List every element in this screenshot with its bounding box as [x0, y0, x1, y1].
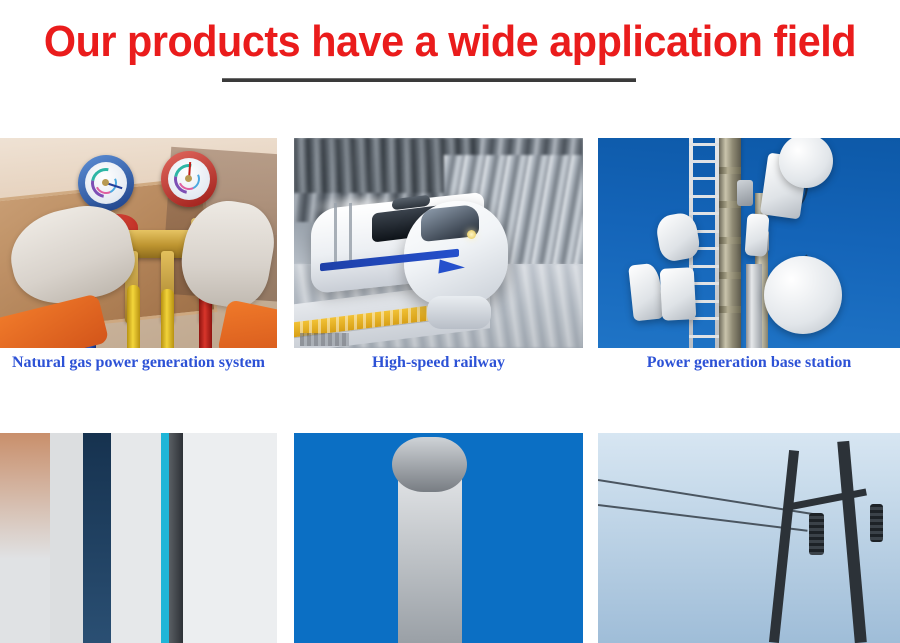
photo-segment — [0, 433, 50, 643]
panel-antenna-lower-left-2 — [660, 267, 697, 321]
page-title: Our products have a wide application fie… — [27, 16, 873, 68]
yellow-hose-second — [161, 289, 174, 348]
red-pressure-gauge — [161, 151, 217, 207]
telecom-tower-photo[interactable] — [598, 138, 900, 348]
microwave-dish-upper — [779, 138, 833, 188]
mast-band — [719, 272, 741, 279]
gallery-item-caption: Natural gas power generation system — [0, 352, 277, 374]
gallery-item-blue-tank[interactable] — [294, 433, 583, 643]
page-root: Our products have a wide application fie… — [0, 0, 900, 450]
tower-equipment-box — [737, 180, 753, 206]
ladder-rung — [689, 265, 719, 268]
gallery-item-power-line[interactable] — [598, 433, 900, 643]
photo-segment — [83, 433, 111, 643]
insulator-string — [870, 504, 883, 542]
gallery-item-base-station[interactable]: Power generation base station — [598, 138, 900, 348]
microwave-dish-lower — [764, 256, 842, 334]
gallery-row: Natural gas power generation system — [0, 138, 900, 348]
power-line-insulator-photo[interactable] — [598, 433, 900, 643]
ladder-rung — [689, 143, 719, 146]
yellow-hose — [127, 285, 140, 348]
ladder-rung — [689, 160, 719, 163]
mast-band — [719, 167, 741, 174]
panel-antenna-lower-left — [628, 263, 664, 322]
heading-block: Our products have a wide application fie… — [0, 0, 900, 125]
photo-segment — [169, 433, 183, 643]
gallery-item-high-speed-railway[interactable]: High-speed railway — [294, 138, 583, 348]
gallery-item-industrial[interactable] — [0, 433, 277, 643]
train-blue-stripe-arrow — [438, 259, 465, 274]
train-lower-nose-fairing — [427, 296, 491, 330]
blue-background-tank-photo[interactable] — [294, 433, 583, 643]
train-door-seam-2 — [349, 203, 352, 264]
blue-pressure-gauge — [78, 155, 134, 211]
refrigerant-manifold-gauges-photo[interactable] — [0, 138, 277, 348]
mast-band — [719, 306, 741, 313]
photo-segment — [111, 433, 161, 643]
ladder-rung — [689, 195, 719, 198]
industrial-equipment-photo[interactable] — [0, 433, 277, 643]
tower-lower-pole — [746, 264, 762, 348]
high-speed-train-photo[interactable] — [294, 138, 583, 348]
gallery-row-partial — [0, 433, 900, 643]
ladder-rung — [689, 212, 719, 215]
gallery-item-caption: Power generation base station — [598, 352, 900, 374]
insulator-string — [809, 513, 824, 555]
title-underline-rule — [222, 78, 636, 82]
mast-band — [719, 237, 741, 244]
ladder-rung — [689, 335, 719, 338]
panel-antenna-center — [745, 213, 770, 256]
photo-watermark — [300, 333, 349, 346]
application-gallery: Natural gas power generation system — [0, 138, 900, 643]
ladder-rung — [689, 177, 719, 180]
photo-segment — [183, 433, 277, 643]
gallery-item-caption: High-speed railway — [294, 352, 583, 374]
gallery-item-natural-gas[interactable]: Natural gas power generation system — [0, 138, 277, 348]
metal-cylinder-cap — [392, 437, 467, 492]
photo-segment — [161, 433, 169, 643]
